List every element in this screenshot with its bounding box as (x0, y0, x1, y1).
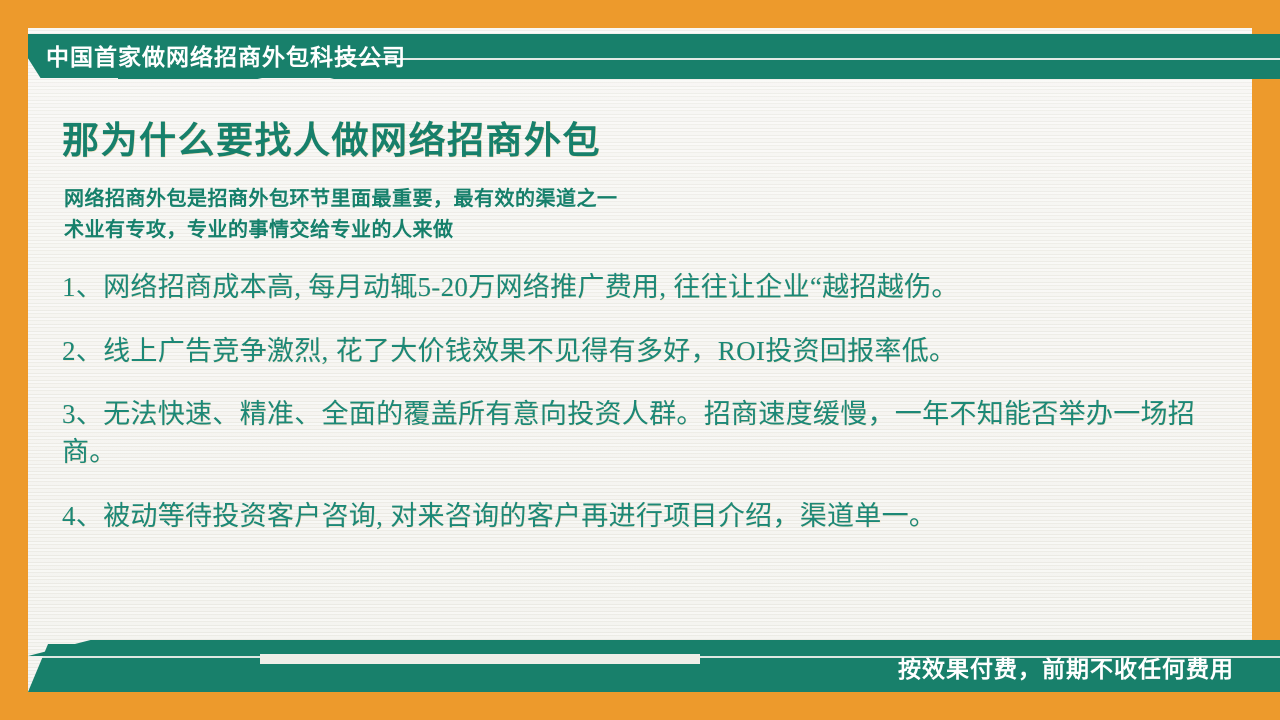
list-item: 4、被动等待投资客户咨询, 对来咨询的客户再进行项目介绍，渠道单一。 (62, 497, 1212, 535)
slide-root: 中国首家做网络招商外包科技公司 那为什么要找人做网络招商外包 网络招商外包是招商… (0, 0, 1280, 720)
footer-slogan: 按效果付费，前期不收任何费用 (898, 650, 1234, 684)
header-band-taper (330, 60, 1280, 79)
list-item: 3、无法快速、精准、全面的覆盖所有意向投资人群。招商速度缓慢，一年不知能否举办一… (62, 395, 1212, 472)
footer-band-rule-mask (260, 654, 700, 664)
list-item: 1、网络招商成本高, 每月动辄5-20万网络推广费用, 往往让企业“越招越伤。 (62, 268, 1212, 306)
subtitle-line-1: 网络招商外包是招商外包环节里面最重要，最有效的渠道之一 (64, 184, 1212, 215)
header-band-rule (340, 58, 1280, 60)
list-item: 2、线上广告竞争激烈, 花了大价钱效果不见得有多好，ROI投资回报率低。 (62, 332, 1212, 370)
subtitle-line-2: 术业有专攻，专业的事情交给专业的人来做 (64, 215, 1212, 246)
subtitle-block: 网络招商外包是招商外包环节里面最重要，最有效的渠道之一 术业有专攻，专业的事情交… (64, 184, 1212, 246)
content-area: 那为什么要找人做网络招商外包 网络招商外包是招商外包环节里面最重要，最有效的渠道… (62, 118, 1212, 535)
points-list: 1、网络招商成本高, 每月动辄5-20万网络推广费用, 往往让企业“越招越伤。 … (62, 268, 1212, 535)
header-tagline: 中国首家做网络招商外包科技公司 (46, 40, 406, 74)
page-title: 那为什么要找人做网络招商外包 (62, 118, 1212, 164)
